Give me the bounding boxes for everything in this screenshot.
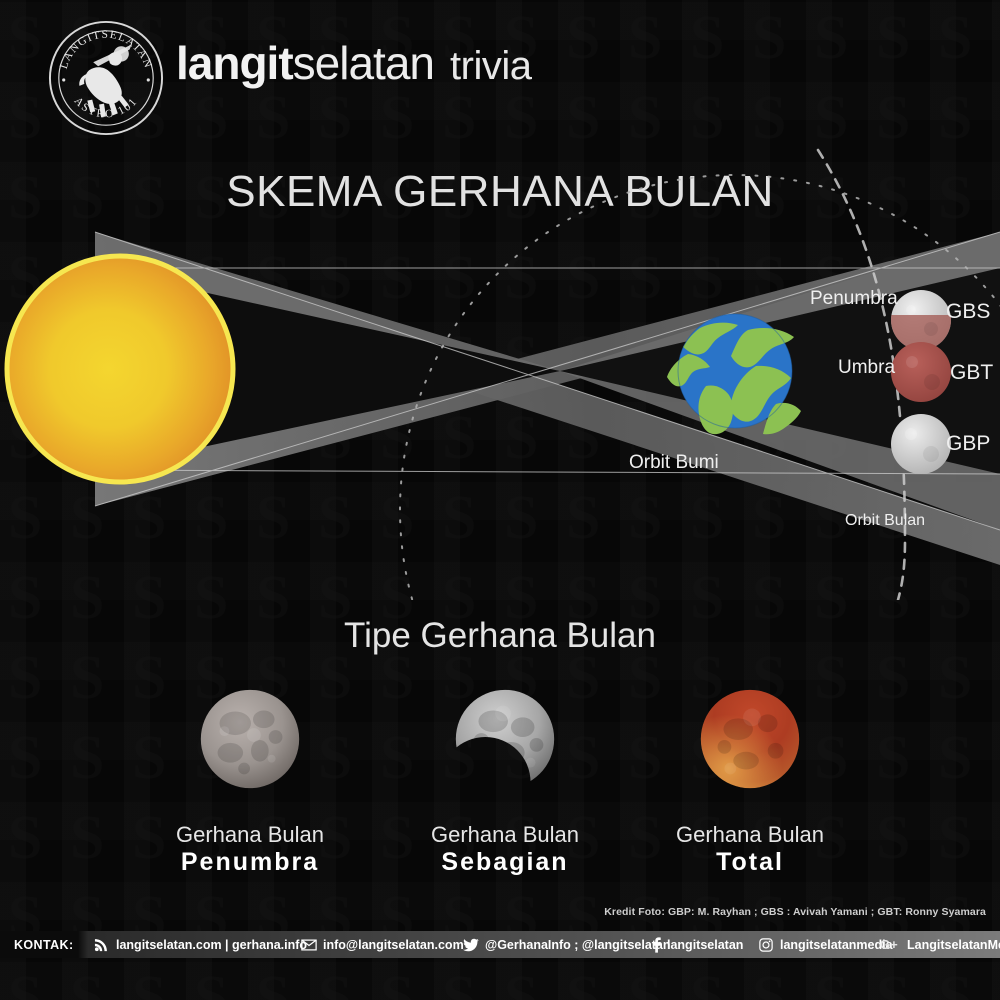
type-label-line1: Gerhana Bulan bbox=[620, 822, 880, 847]
footer-email-text: info@langitselatan.com bbox=[323, 938, 464, 952]
footer-email-link[interactable]: info@langitselatan.com bbox=[300, 931, 464, 958]
brand-wordmark: langitselatantrivia bbox=[176, 36, 531, 90]
eclipse-type-penumbra: Gerhana Bulan Penumbra bbox=[120, 680, 380, 877]
footer-website-link[interactable]: langitselatan.com | gerhana.info bbox=[93, 931, 307, 958]
instagram-icon bbox=[757, 936, 774, 953]
label-orbit-bumi: Orbit Bumi bbox=[629, 452, 719, 474]
label-gbp: GBP bbox=[946, 432, 990, 456]
brand-bold: langit bbox=[176, 37, 293, 89]
eclipse-type-total: Gerhana Bulan Total bbox=[620, 680, 880, 877]
type-label-line2: Sebagian bbox=[375, 847, 635, 877]
contact-footer: KONTAK: langitselatan.com | gerhana.info… bbox=[0, 931, 1000, 958]
footer-googleplus-link[interactable]: G+ LangitselatanMedia bbox=[880, 931, 1000, 958]
svg-text:G+: G+ bbox=[880, 938, 898, 952]
brand-light: selatan bbox=[293, 37, 434, 89]
label-penumbra: Penumbra bbox=[810, 288, 898, 310]
photo-credit: Kredit Foto: GBP: M. Rayhan ; GBS : Aviv… bbox=[604, 906, 986, 918]
type-label-line2: Penumbra bbox=[120, 847, 380, 877]
envelope-icon bbox=[300, 936, 317, 953]
type-label-line2: Total bbox=[620, 847, 880, 877]
moon-gbt bbox=[891, 342, 951, 402]
infographic-page: S LANGITSELATAN ASTRO 101 bbox=[0, 0, 1000, 1000]
types-title: Tipe Gerhana Bulan bbox=[0, 616, 1000, 656]
footer-instagram-link[interactable]: langitselatanmedia bbox=[757, 931, 893, 958]
eclipse-type-sebagian: Gerhana Bulan Sebagian bbox=[375, 680, 635, 877]
footer-kontak-label: KONTAK: bbox=[14, 931, 74, 958]
page-header: LANGITSELATAN ASTRO 101 langitselatant bbox=[0, 0, 1000, 140]
moon-total-eclipse-icon bbox=[691, 680, 809, 798]
footer-instagram-text: langitselatanmedia bbox=[780, 938, 893, 952]
googleplus-icon: G+ bbox=[880, 936, 906, 953]
facebook-icon bbox=[652, 936, 661, 953]
moon-gbp bbox=[891, 414, 951, 474]
moon-gbs bbox=[891, 290, 951, 350]
label-gbs: GBS bbox=[946, 300, 990, 324]
logo-arc-top-text: LANGITSELATAN bbox=[58, 29, 154, 71]
footer-website-text: langitselatan.com | gerhana.info bbox=[116, 938, 307, 952]
label-orbit-bulan: Orbit Bulan bbox=[845, 512, 925, 530]
footer-twitter-text: @GerhanaInfo ; @langitselatan bbox=[485, 938, 671, 952]
moon-partial-eclipse-icon bbox=[446, 680, 564, 798]
type-label-line1: Gerhana Bulan bbox=[375, 822, 635, 847]
rss-icon bbox=[93, 936, 110, 953]
langitselatan-astro101-logo: LANGITSELATAN ASTRO 101 bbox=[47, 19, 165, 137]
footer-facebook-text: langitselatan bbox=[667, 938, 743, 952]
footer-twitter-link[interactable]: @GerhanaInfo ; @langitselatan bbox=[462, 931, 671, 958]
moon-penumbral-eclipse-icon bbox=[191, 680, 309, 798]
twitter-icon bbox=[462, 936, 479, 953]
sun bbox=[7, 256, 233, 482]
footer-googleplus-text: LangitselatanMedia bbox=[907, 938, 1000, 952]
footer-facebook-link[interactable]: langitselatan bbox=[652, 931, 743, 958]
brand-suffix: trivia bbox=[450, 44, 531, 88]
label-umbra: Umbra bbox=[838, 357, 895, 379]
type-label-line1: Gerhana Bulan bbox=[120, 822, 380, 847]
label-gbt: GBT bbox=[950, 361, 993, 385]
